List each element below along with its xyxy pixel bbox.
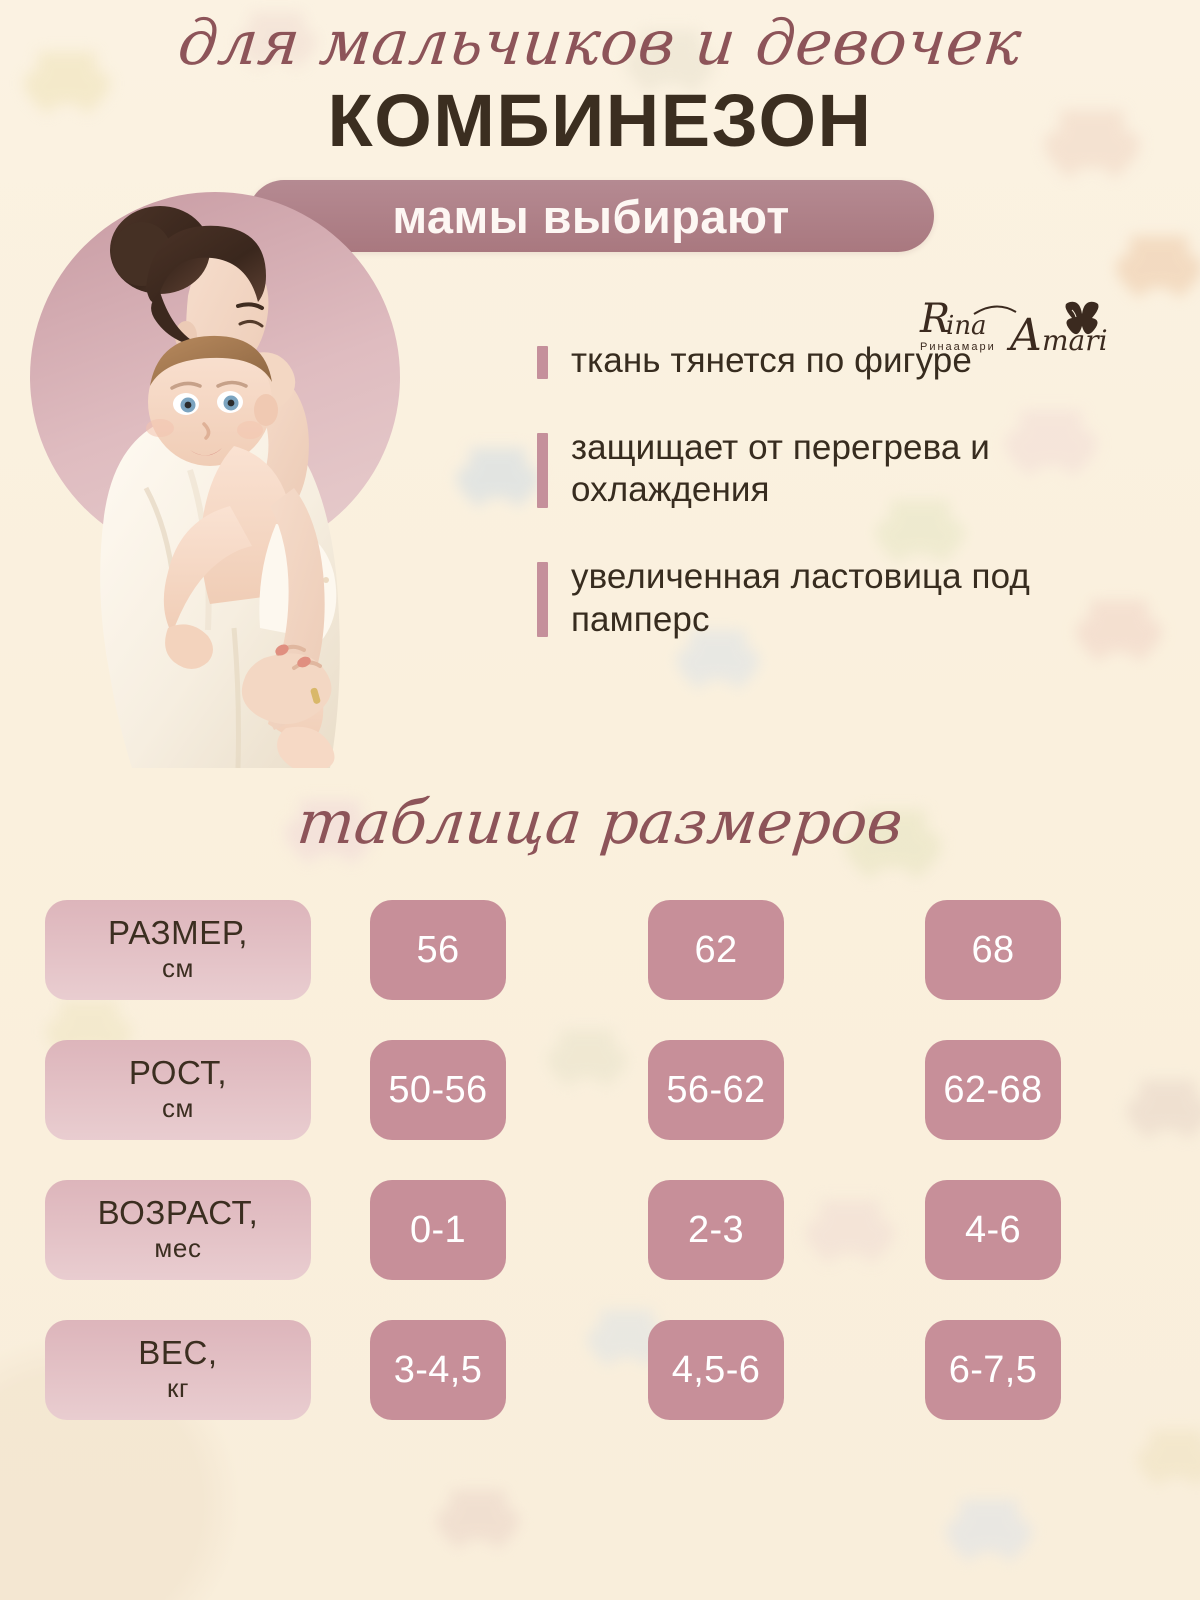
size-table-title: таблица размеров <box>0 788 1200 858</box>
table-row: ВЕС, кг 3-4,5 4,5-6 6-7,5 <box>0 1320 1200 1460</box>
kicker-text: для мальчиков и девочек <box>0 6 1200 79</box>
row-label-main: РОСТ, <box>129 1056 227 1091</box>
row-label-unit: см <box>162 1093 194 1124</box>
accent-bar <box>537 562 548 637</box>
size-value-cell: 2-3 <box>648 1180 784 1280</box>
size-table: РАЗМЕР, см 56 62 68 РОСТ, см 50-56 56-62… <box>0 900 1200 1460</box>
row-label-cell: ВОЗРАСТ, мес <box>45 1180 311 1280</box>
feature-list: ткань тянется по фигуре защищает от пере… <box>537 340 1157 685</box>
row-label-cell: ВЕС, кг <box>45 1320 311 1420</box>
heart-icon <box>960 1500 1018 1552</box>
size-value-cell: 68 <box>925 900 1061 1000</box>
feature-item: ткань тянется по фигуре <box>537 340 1157 383</box>
heart-icon <box>450 1490 506 1540</box>
size-value-cell: 6-7,5 <box>925 1320 1061 1420</box>
heart-icon <box>1130 236 1188 288</box>
size-value-cell: 62 <box>648 900 784 1000</box>
row-label-unit: кг <box>167 1373 189 1404</box>
table-row: ВОЗРАСТ, мес 0-1 2-3 4-6 <box>0 1180 1200 1320</box>
table-row: РОСТ, см 50-56 56-62 62-68 <box>0 1040 1200 1180</box>
infographic-page: для мальчиков и девочек КОМБИНЕЗОН мамы … <box>0 0 1200 1600</box>
size-value-cell: 4,5-6 <box>648 1320 784 1420</box>
feature-text: ткань тянется по фигуре <box>571 340 1157 383</box>
size-value-cell: 56-62 <box>648 1040 784 1140</box>
feature-text: увеличенная ластовица под памперс <box>571 556 1157 641</box>
badge-label: мамы выбирают <box>392 189 789 244</box>
heart-icon <box>470 448 526 498</box>
size-value-cell: 0-1 <box>370 1180 506 1280</box>
size-value-cell: 62-68 <box>925 1040 1061 1140</box>
feature-item: увеличенная ластовица под памперс <box>537 556 1157 641</box>
feature-item: защищает от перегрева и охлаждения <box>537 427 1157 512</box>
size-value-cell: 3-4,5 <box>370 1320 506 1420</box>
row-label-cell: РАЗМЕР, см <box>45 900 311 1000</box>
row-label-main: ВОЗРАСТ, <box>98 1196 259 1231</box>
size-value-cell: 50-56 <box>370 1040 506 1140</box>
size-value-cell: 56 <box>370 900 506 1000</box>
page-title: КОМБИНЕЗОН <box>0 78 1200 163</box>
mother-and-baby-illustration <box>38 188 438 768</box>
row-label-unit: мес <box>154 1233 201 1264</box>
size-value-cell: 4-6 <box>925 1180 1061 1280</box>
feature-text: защищает от перегрева и охлаждения <box>571 427 1157 512</box>
row-label-cell: РОСТ, см <box>45 1040 311 1140</box>
row-label-unit: см <box>162 953 194 984</box>
table-row: РАЗМЕР, см 56 62 68 <box>0 900 1200 1040</box>
row-label-main: РАЗМЕР, <box>108 916 248 951</box>
brand-script-rest1: ina <box>946 311 987 341</box>
accent-bar <box>537 346 548 379</box>
row-label-main: ВЕС, <box>138 1336 217 1371</box>
accent-bar <box>537 433 548 508</box>
hero-photo <box>38 188 438 768</box>
